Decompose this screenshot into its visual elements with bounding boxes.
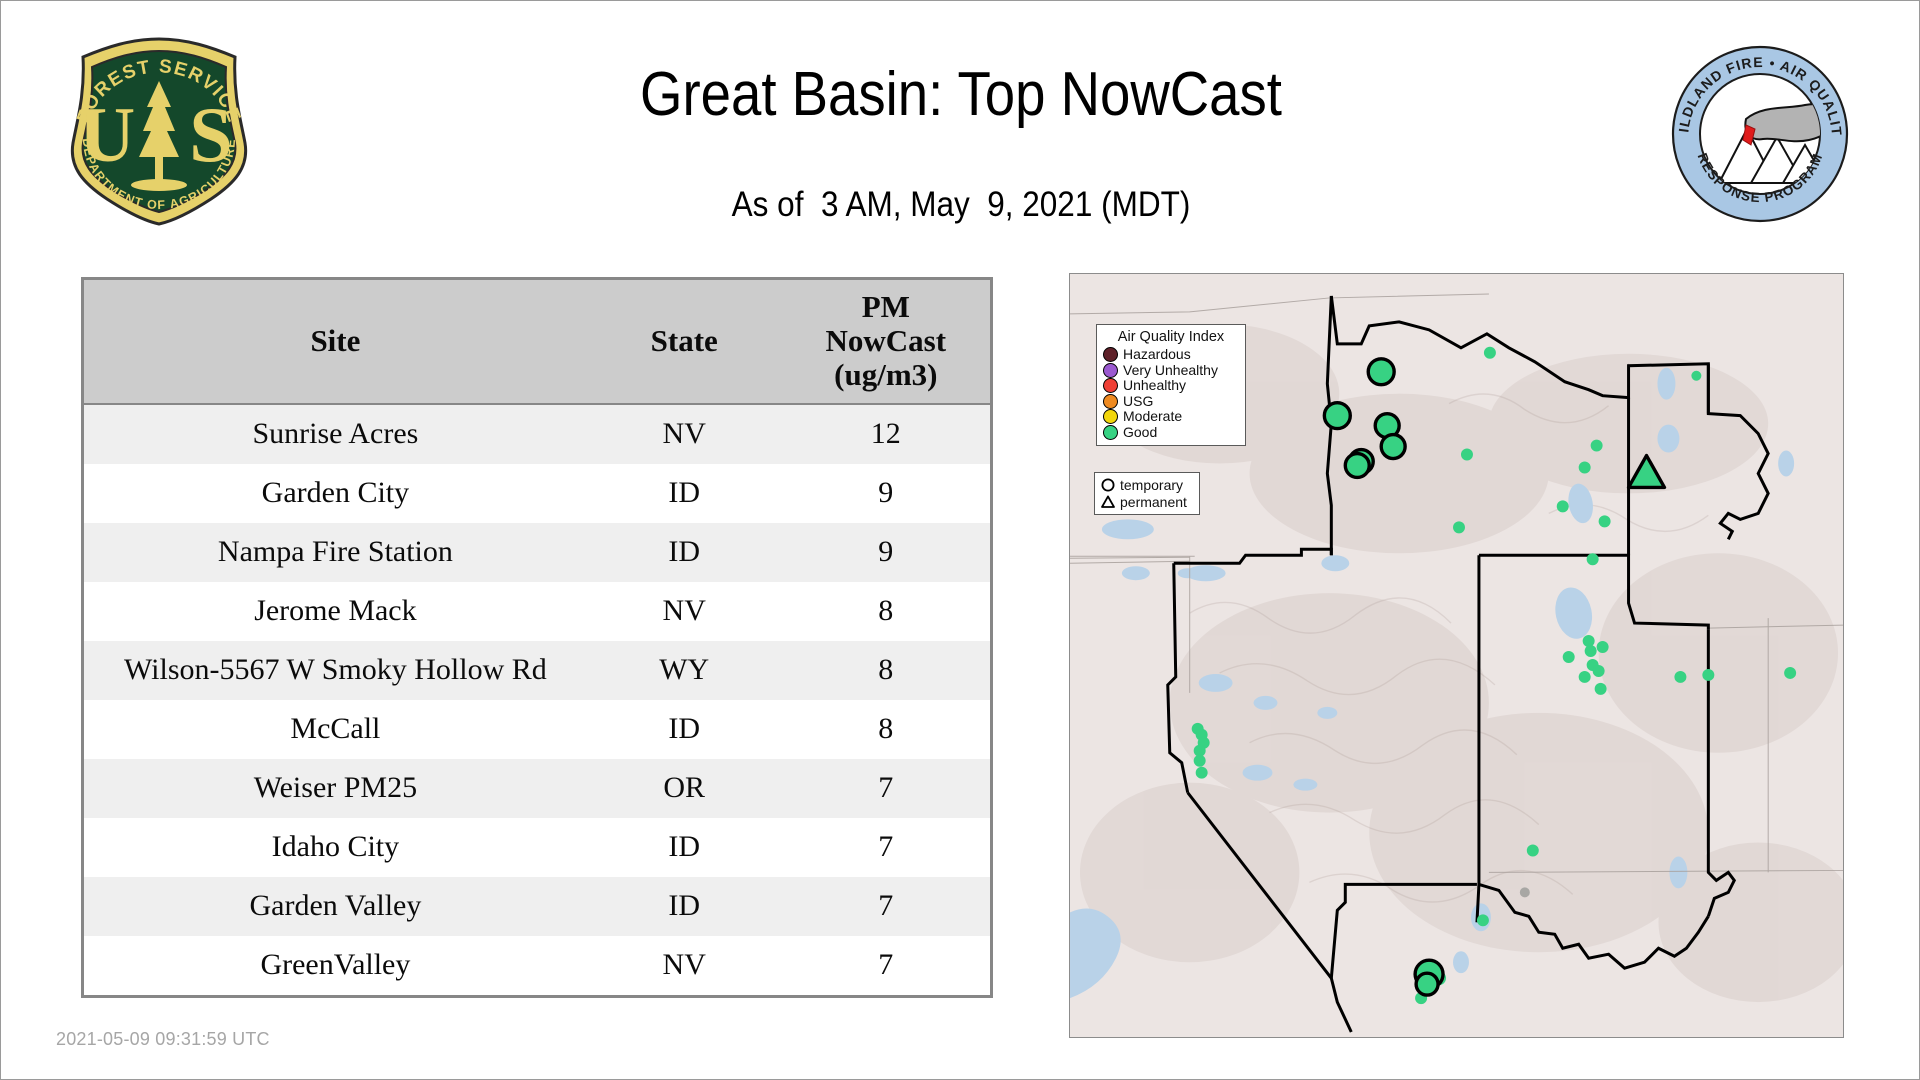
aqi-legend-item-good: Good <box>1103 425 1239 441</box>
table-row: Sunrise Acres NV 12 <box>84 404 990 464</box>
aqi-legend-item-very-unhealthy: Very Unhealthy <box>1103 363 1239 379</box>
triangle-icon <box>1100 494 1116 510</box>
cell-state: ID <box>587 877 782 936</box>
monitor-marker <box>1674 671 1686 683</box>
monitor-marker <box>1557 500 1569 512</box>
monitor-marker <box>1597 641 1609 653</box>
cell-value: 8 <box>782 641 990 700</box>
cell-value: 12 <box>782 404 990 464</box>
table-row: Wilson-5567 W Smoky Hollow Rd WY 8 <box>84 641 990 700</box>
table-header-row: Site State PM NowCast (ug/m3) <box>84 280 990 404</box>
monitor-marker <box>1527 845 1539 857</box>
air-quality-index-legend: Air Quality Index Hazardous Very Unhealt… <box>1096 324 1246 446</box>
column-header-site: Site <box>84 280 587 404</box>
table-row: Jerome Mack NV 8 <box>84 582 990 641</box>
table-row: Weiser PM25 OR 7 <box>84 759 990 818</box>
monitor-marker <box>1194 755 1206 767</box>
table-row: Garden Valley ID 7 <box>84 877 990 936</box>
cell-value: 9 <box>782 464 990 523</box>
monitor-marker <box>1453 521 1465 533</box>
column-header-pm-line1: PM <box>786 290 986 324</box>
cell-value: 8 <box>782 582 990 641</box>
table-row: GreenValley NV 7 <box>84 936 990 995</box>
aqi-swatch-moderate <box>1103 409 1118 424</box>
monitor-marker <box>1595 683 1607 695</box>
cell-state: ID <box>587 818 782 877</box>
cell-site: Weiser PM25 <box>84 759 587 818</box>
cell-site: Sunrise Acres <box>84 404 587 464</box>
page-title: Great Basin: Top NowCast <box>116 59 1806 130</box>
monitor-marker <box>1583 635 1595 647</box>
cell-site: GreenValley <box>84 936 587 995</box>
cell-state: ID <box>587 523 782 582</box>
monitor-marker-inactive <box>1520 887 1530 897</box>
column-header-pm-nowcast: PM NowCast (ug/m3) <box>782 280 990 404</box>
cell-state: ID <box>587 700 782 759</box>
type-label-temporary: temporary <box>1120 477 1183 493</box>
monitor-marker <box>1484 347 1496 359</box>
aqi-legend-item-unhealthy: Unhealthy <box>1103 378 1239 394</box>
type-legend-item-temporary: temporary <box>1100 476 1194 493</box>
top-monitor-marker <box>1368 359 1394 385</box>
monitor-marker <box>1702 669 1714 681</box>
cell-site: Garden City <box>84 464 587 523</box>
top-monitor-marker <box>1381 435 1405 459</box>
top-monitor-marker <box>1324 403 1350 429</box>
aqi-legend-title: Air Quality Index <box>1103 329 1239 345</box>
cell-site: Wilson-5567 W Smoky Hollow Rd <box>84 641 587 700</box>
monitor-marker <box>1196 767 1208 779</box>
table-row: Garden City ID 9 <box>84 464 990 523</box>
page-subtitle: As of 3 AM, May 9, 2021 (MDT) <box>97 185 1825 225</box>
cell-value: 7 <box>782 936 990 995</box>
aqi-swatch-good <box>1103 425 1118 440</box>
aqi-swatch-unhealthy <box>1103 378 1118 393</box>
top-nowcast-table: Site State PM NowCast (ug/m3) Sunrise Ac… <box>81 277 993 998</box>
wildland-fire-air-quality-badge-icon: WILDLAND FIRE • AIR QUALITY RESPONSE PRO… <box>1671 45 1849 223</box>
monitor-marker <box>1563 651 1575 663</box>
type-legend-item-permanent: permanent <box>1100 493 1194 510</box>
top-monitor-marker <box>1416 973 1438 995</box>
aqi-label-very-unhealthy: Very Unhealthy <box>1123 363 1218 378</box>
cell-site: Nampa Fire Station <box>84 523 587 582</box>
great-basin-monitor-map[interactable]: Air Quality Index Hazardous Very Unhealt… <box>1069 273 1844 1038</box>
table-row: McCall ID 8 <box>84 700 990 759</box>
column-header-state: State <box>587 280 782 404</box>
cell-site: McCall <box>84 700 587 759</box>
cell-state: OR <box>587 759 782 818</box>
top-monitor-marker <box>1345 454 1369 478</box>
aqi-label-moderate: Moderate <box>1123 409 1182 424</box>
cell-value: 7 <box>782 818 990 877</box>
aqi-label-usg: USG <box>1123 394 1153 409</box>
table-row: Idaho City ID 7 <box>84 818 990 877</box>
aqi-swatch-hazardous <box>1103 347 1118 362</box>
monitor-marker <box>1599 515 1611 527</box>
monitor-marker <box>1691 371 1701 381</box>
aqi-label-good: Good <box>1123 425 1157 440</box>
cell-state: ID <box>587 464 782 523</box>
aqi-label-hazardous: Hazardous <box>1123 347 1191 362</box>
monitor-marker <box>1461 449 1473 461</box>
aqi-legend-item-usg: USG <box>1103 394 1239 410</box>
table-row: Nampa Fire Station ID 9 <box>84 523 990 582</box>
cell-value: 9 <box>782 523 990 582</box>
cell-site: Jerome Mack <box>84 582 587 641</box>
monitor-marker <box>1591 440 1603 452</box>
generated-timestamp: 2021-05-09 09:31:59 UTC <box>56 1029 270 1050</box>
monitor-marker <box>1579 671 1591 683</box>
circle-icon <box>1100 477 1116 493</box>
aqi-swatch-very-unhealthy <box>1103 363 1118 378</box>
cell-site: Idaho City <box>84 818 587 877</box>
aqi-legend-item-moderate: Moderate <box>1103 409 1239 425</box>
cell-site: Garden Valley <box>84 877 587 936</box>
column-header-pm-line2: NowCast <box>786 324 986 358</box>
cell-value: 7 <box>782 877 990 936</box>
aqi-swatch-usg <box>1103 394 1118 409</box>
cell-state: NV <box>587 404 782 464</box>
report-page: FOREST SERVICE DEPARTMENT OF AGRICULTURE… <box>0 0 1920 1080</box>
column-header-pm-line3: (ug/m3) <box>786 358 986 392</box>
monitor-marker <box>1579 462 1591 474</box>
monitor-marker <box>1784 667 1796 679</box>
monitor-marker <box>1477 914 1489 926</box>
monitor-marker <box>1593 665 1605 677</box>
monitor-type-legend: temporary permanent <box>1094 472 1200 515</box>
monitor-marker <box>1587 553 1599 565</box>
monitor-marker <box>1585 645 1597 657</box>
aqi-label-unhealthy: Unhealthy <box>1123 378 1186 393</box>
type-label-permanent: permanent <box>1120 494 1187 510</box>
cell-state: WY <box>587 641 782 700</box>
aqi-legend-item-hazardous: Hazardous <box>1103 347 1239 363</box>
cell-value: 8 <box>782 700 990 759</box>
cell-value: 7 <box>782 759 990 818</box>
cell-state: NV <box>587 582 782 641</box>
cell-state: NV <box>587 936 782 995</box>
